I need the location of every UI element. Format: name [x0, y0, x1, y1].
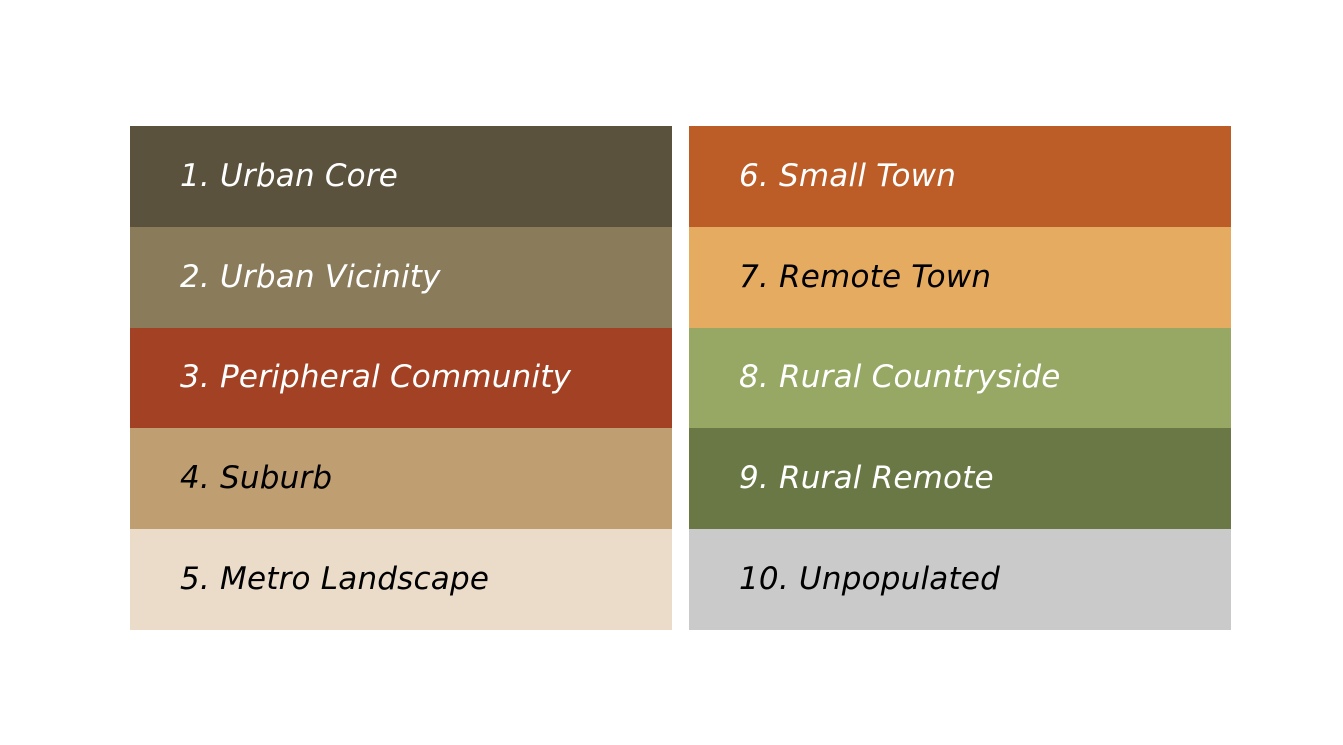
legend-label-5: 5. Metro Landscape [180, 564, 489, 595]
legend-label-8: 8. Rural Countryside [739, 362, 1061, 393]
legend-column-left: 1. Urban Core 2. Urban Vicinity 3. Perip… [130, 126, 672, 630]
legend-root: 1. Urban Core 2. Urban Vicinity 3. Perip… [0, 0, 1343, 745]
legend-label-9: 9. Rural Remote [739, 463, 994, 494]
legend-column-right: 6. Small Town 7. Remote Town 8. Rural Co… [689, 126, 1231, 630]
legend-label-2: 2. Urban Vicinity [180, 262, 441, 293]
legend-row-10[interactable]: 10. Unpopulated [689, 529, 1231, 630]
legend-label-4: 4. Suburb [180, 463, 332, 494]
legend-label-1: 1. Urban Core [180, 161, 398, 192]
legend-label-3: 3. Peripheral Community [180, 362, 571, 393]
legend-row-3[interactable]: 3. Peripheral Community [130, 328, 672, 429]
legend-row-8[interactable]: 8. Rural Countryside [689, 328, 1231, 429]
legend-row-9[interactable]: 9. Rural Remote [689, 428, 1231, 529]
legend-row-1[interactable]: 1. Urban Core [130, 126, 672, 227]
legend-row-7[interactable]: 7. Remote Town [689, 227, 1231, 328]
legend-label-10: 10. Unpopulated [739, 564, 1000, 595]
legend-row-4[interactable]: 4. Suburb [130, 428, 672, 529]
legend-label-7: 7. Remote Town [739, 262, 991, 293]
legend-row-5[interactable]: 5. Metro Landscape [130, 529, 672, 630]
legend-row-2[interactable]: 2. Urban Vicinity [130, 227, 672, 328]
legend-label-6: 6. Small Town [739, 161, 956, 192]
legend-row-6[interactable]: 6. Small Town [689, 126, 1231, 227]
